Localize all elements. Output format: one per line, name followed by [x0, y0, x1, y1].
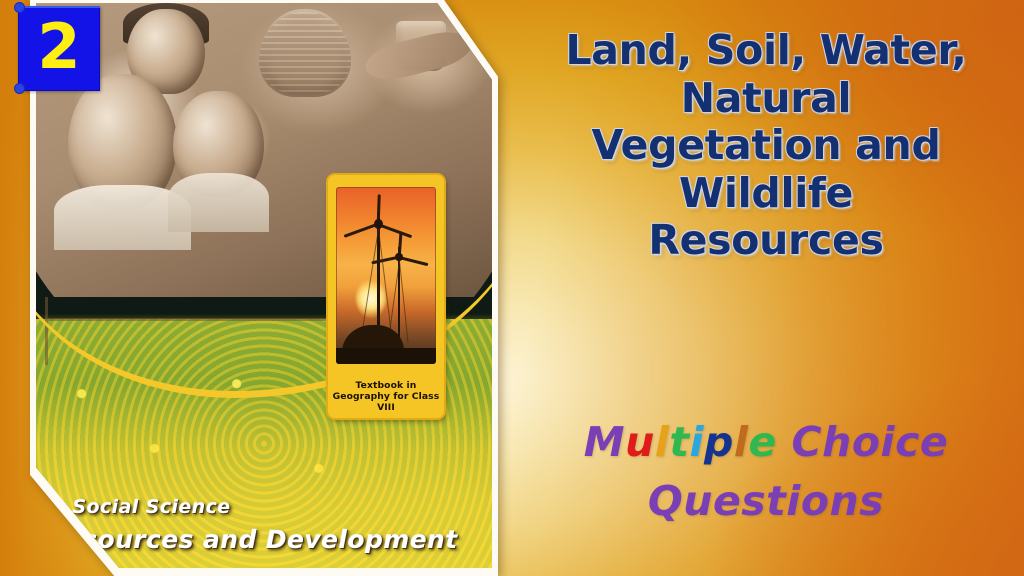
cover-text-block: Social Science Resources and Development	[72, 496, 492, 554]
child-collar-middle	[168, 173, 268, 232]
subtitle-questions: Questions	[508, 472, 1024, 531]
chapter-number-badge[interactable]: 2	[18, 6, 100, 91]
title-line-4: Wildlife	[508, 170, 1024, 218]
title-line-3: Vegetation and	[508, 122, 1024, 170]
chapter-number-label: 2	[19, 7, 99, 90]
title-line-5: Resources	[508, 217, 1024, 265]
subtitle-letter: l	[734, 418, 749, 466]
subtitle-letter: p	[704, 418, 734, 466]
subtitle-letter: h	[822, 418, 852, 466]
inset-windmill-panel: Textbook in Geography for Class VIII	[328, 175, 444, 418]
subtitle-letter: e	[920, 418, 948, 466]
windmill-sunset-photo	[336, 187, 436, 364]
slide-canvas: Textbook in Geography for Class VIII Soc…	[0, 0, 1024, 576]
subtitle-letter: o	[852, 418, 881, 466]
badge-top-edge	[18, 6, 100, 8]
sun-glow	[356, 279, 386, 318]
subtitle-multiple-choice: Multiple Choice	[508, 413, 1024, 472]
resize-handle-bottom-left[interactable]	[14, 83, 25, 94]
subtitle-letter: t	[669, 418, 689, 466]
pottery-rings	[259, 12, 350, 94]
subtitle-letter: u	[625, 418, 655, 466]
turbine-blade	[399, 256, 429, 266]
cover-subject-line: Social Science	[72, 496, 492, 518]
turbine-blade	[344, 223, 379, 238]
page-title: Land, Soil, Water, Natural Vegetation an…	[508, 27, 1024, 265]
book-cover-artwork: Textbook in Geography for Class VIII Soc…	[36, 3, 492, 568]
subtitle-block: Multiple Choice Questions	[508, 413, 1024, 532]
subtitle-letter: M	[584, 418, 625, 466]
title-line-1: Land, Soil, Water,	[508, 27, 1024, 75]
cover-title-line: Resources and Development	[46, 525, 492, 554]
subtitle-letter: i	[689, 418, 704, 466]
text-pane: Land, Soil, Water, Natural Vegetation an…	[508, 0, 1024, 576]
turbine-hub-1	[374, 219, 383, 230]
guy-wire	[399, 261, 409, 342]
foreground-ground	[336, 348, 436, 364]
inset-caption-line-2: Geography for Class VIII	[328, 392, 444, 414]
subtitle-letter: e	[748, 418, 776, 466]
subtitle-letter: c	[895, 418, 920, 466]
inset-caption: Textbook in Geography for Class VIII	[328, 381, 444, 414]
book-cover-image[interactable]: Textbook in Geography for Class VIII Soc…	[30, 0, 498, 576]
title-line-2: Natural	[508, 75, 1024, 123]
subtitle-letter: i	[881, 418, 896, 466]
subtitle-letter: l	[655, 418, 670, 466]
resize-handle-top-left[interactable]	[14, 2, 25, 13]
subtitle-letter	[777, 418, 792, 466]
subtitle-letter: C	[792, 418, 823, 466]
